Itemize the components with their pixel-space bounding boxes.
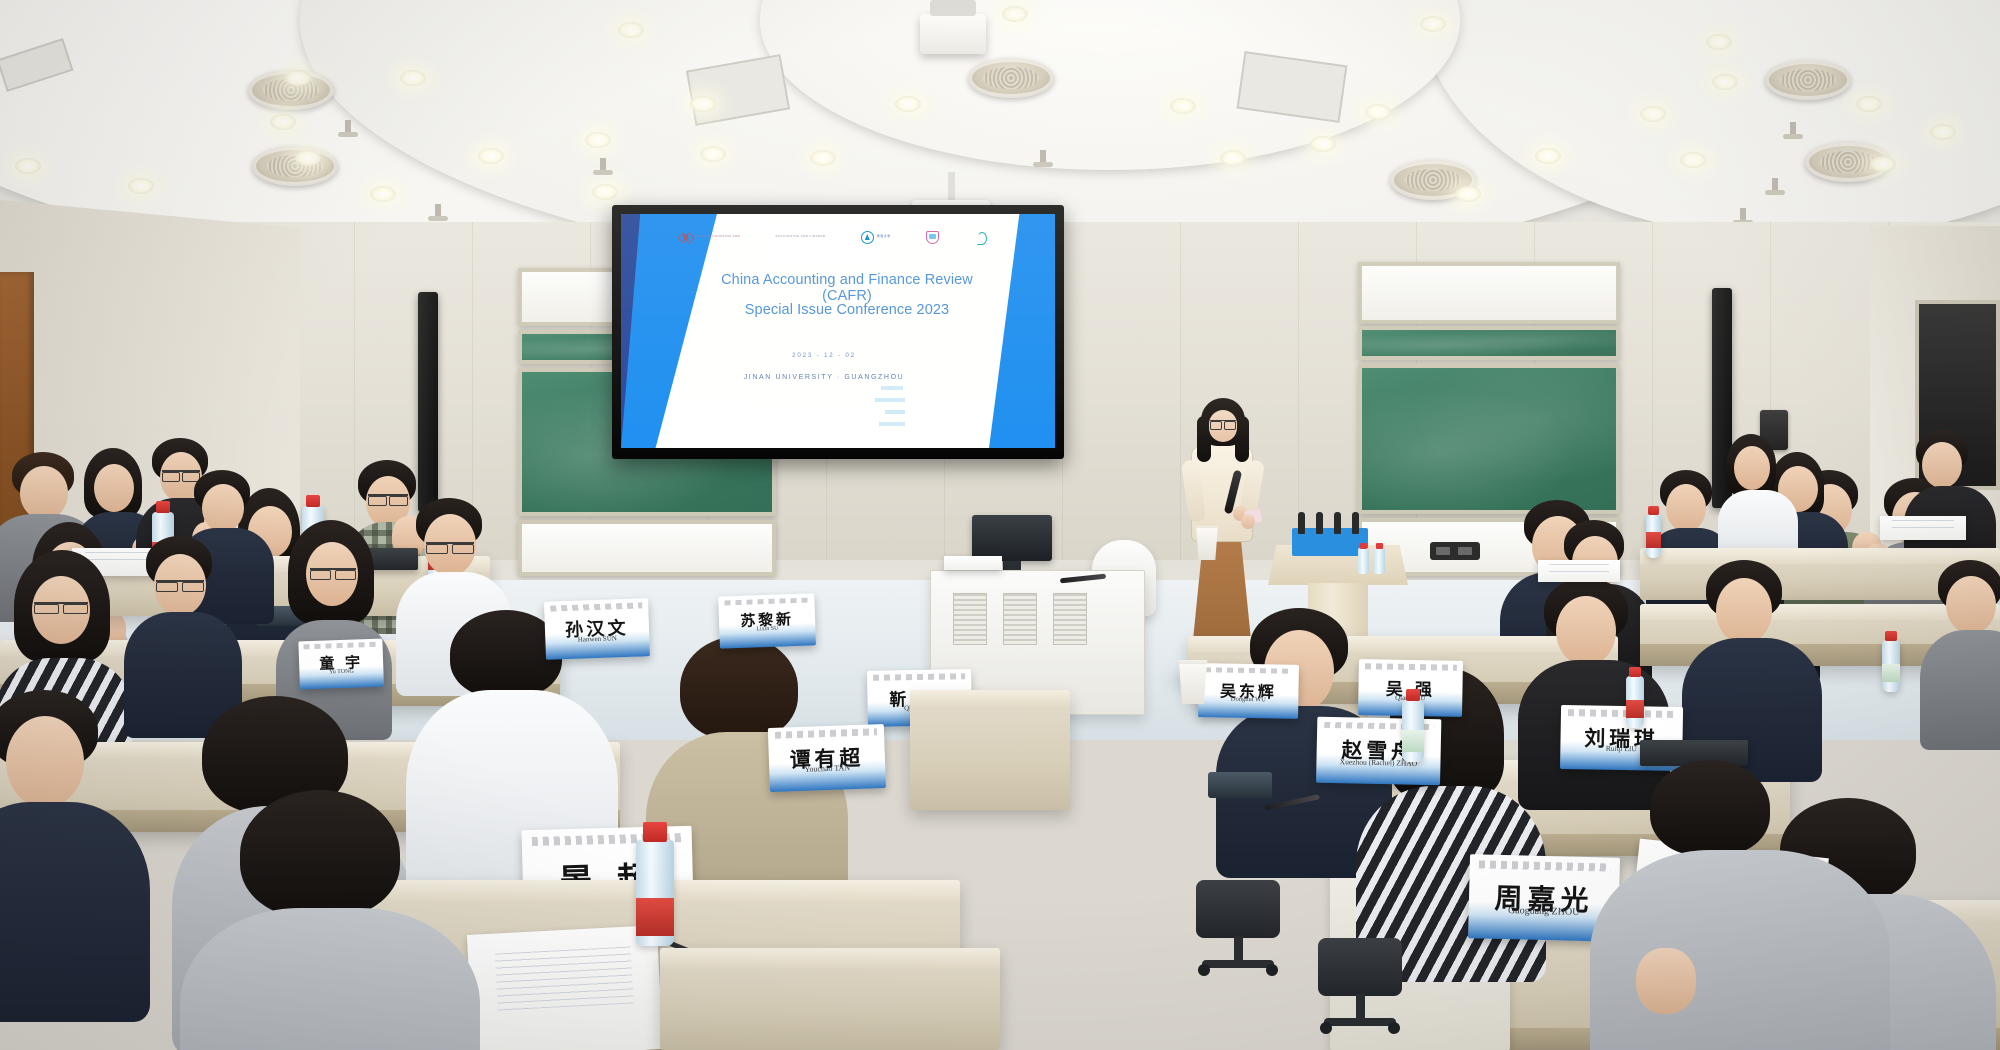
office-chair[interactable] xyxy=(1318,938,1402,1034)
nameplate: 吴东辉 Donghui WU xyxy=(1198,663,1299,719)
document-on-desk xyxy=(467,925,663,1050)
microphone-icon xyxy=(1298,512,1305,534)
chair-back xyxy=(1318,938,1402,996)
slide-watermark-graphic xyxy=(871,382,923,444)
ceiling-downlight xyxy=(370,186,396,202)
ceiling-downlight xyxy=(1002,6,1028,22)
nameplate-header-band xyxy=(1568,710,1675,718)
slide-subtitle: Special Issue Conference 2023 xyxy=(713,302,981,318)
chair-legs xyxy=(1324,1018,1396,1026)
ceiling-downlight xyxy=(1455,186,1481,202)
nameplate-header-band xyxy=(1365,663,1457,670)
chair-post xyxy=(1234,936,1243,962)
chair-legs xyxy=(1202,960,1274,968)
cabinet-vent xyxy=(1003,593,1037,645)
bottle-label xyxy=(1646,532,1661,548)
microphone-icon xyxy=(1352,512,1359,534)
bottle-label xyxy=(1882,664,1900,682)
bottle-label xyxy=(1402,730,1424,752)
led-display-screen[interactable]: CHINA ACCOUNTING AND ACCOUNTING AND FINA… xyxy=(612,205,1064,459)
chair-caster xyxy=(1266,964,1278,976)
nameplate: 谭有超 Youchao TAN xyxy=(768,724,886,792)
water-bottle xyxy=(1358,548,1369,574)
presentation-slide: CHINA ACCOUNTING AND ACCOUNTING AND FINA… xyxy=(621,214,1055,448)
chair-caster xyxy=(1320,1022,1332,1034)
cabinet-vent xyxy=(953,593,987,645)
bottle-label xyxy=(636,898,674,936)
presenter-hand xyxy=(1241,514,1255,529)
person-head xyxy=(1666,484,1706,532)
ceiling-downlight xyxy=(270,114,296,130)
ceiling-downlight xyxy=(1310,136,1336,152)
nameplate-header-band xyxy=(775,729,877,739)
logo-jinan-university: 暨南大学 xyxy=(861,231,891,244)
nameplate-header-band xyxy=(303,642,377,649)
person-head xyxy=(1556,596,1616,666)
chalkboard-surface xyxy=(1362,330,1616,356)
bottle-cap xyxy=(1406,689,1420,701)
ceiling xyxy=(0,0,2000,230)
ceiling-downlight xyxy=(1706,34,1732,50)
sprinkler-head-icon xyxy=(435,204,441,218)
bottle-cap xyxy=(1629,667,1641,677)
ceiling-downlight xyxy=(1640,106,1666,122)
whiteboard-upper-right xyxy=(1358,262,1620,324)
chalkboard-right xyxy=(1358,364,1620,514)
document-on-desk xyxy=(1880,516,1966,540)
water-bottle xyxy=(1374,548,1385,574)
ceiling-downlight xyxy=(1535,148,1561,164)
whiteboard-surface xyxy=(1362,266,1616,320)
slide-title: China Accounting and Finance Review (CAF… xyxy=(713,272,981,304)
chair-post xyxy=(1356,994,1365,1020)
bottle-cap xyxy=(643,822,667,842)
glasses-icon xyxy=(1210,420,1236,427)
bottle-label xyxy=(1626,700,1644,718)
aisle-desk xyxy=(910,690,1070,810)
diamond-logo-icon xyxy=(679,231,692,244)
water-bottle xyxy=(636,840,674,946)
ceiling-downlight xyxy=(1420,16,1446,32)
logo-research-center: ACCOUNTING AND FINANCE xyxy=(775,235,825,239)
person-head xyxy=(1734,446,1770,490)
nameplate-header-band xyxy=(1205,667,1293,674)
person-head xyxy=(1922,442,1962,488)
sprinkler-head-icon xyxy=(600,158,606,172)
nameplate-header-band xyxy=(724,597,809,605)
water-bottle xyxy=(1626,676,1644,728)
logo-cafr: CHINA ACCOUNTING AND xyxy=(679,231,740,244)
slide-date: 2023 - 12 - 02 xyxy=(713,352,935,359)
person-torso xyxy=(1590,850,1890,1050)
logo-cafr-label: CHINA ACCOUNTING AND xyxy=(695,235,740,239)
person-hand xyxy=(1636,948,1696,1014)
chair-caster xyxy=(1198,964,1210,976)
chalkboard-strip-right xyxy=(1358,326,1620,360)
logo-research-center-label: ACCOUNTING AND FINANCE xyxy=(775,235,825,239)
person-head xyxy=(202,484,244,532)
swoosh-logo-icon xyxy=(974,231,987,244)
person-hair xyxy=(1650,760,1770,856)
nameplate-name-en: Gaoguang ZHOU xyxy=(1469,905,1619,920)
ceiling-downlight xyxy=(1930,124,1956,140)
ceiling-downlight xyxy=(1856,96,1882,112)
nameplate: 苏黎新 Lixin SU xyxy=(718,593,816,648)
person-head xyxy=(6,716,84,808)
bottle-cap xyxy=(306,495,320,507)
glasses-icon xyxy=(34,602,88,613)
bottle-cap xyxy=(156,501,170,513)
nameplate-name-en: Donghui WU xyxy=(1198,696,1298,705)
slide-logo-row: CHINA ACCOUNTING AND ACCOUNTING AND FINA… xyxy=(679,224,987,250)
sprinkler-head-icon xyxy=(1740,208,1746,222)
air-diffuser-icon xyxy=(252,146,338,186)
sprinkler-head-icon xyxy=(1040,150,1046,164)
crest-logo-icon xyxy=(926,231,939,244)
desk-surface xyxy=(1640,548,2000,564)
monitor-screen xyxy=(972,515,1052,561)
bottle-cap xyxy=(1648,506,1659,515)
ceiling-downlight xyxy=(700,146,726,162)
person-head xyxy=(1946,576,1996,634)
ceiling-downlight xyxy=(895,96,921,112)
glasses-icon xyxy=(310,568,356,579)
whiteboard-lower-left xyxy=(518,520,776,576)
ceiling-downlight xyxy=(592,184,618,200)
person-head xyxy=(94,464,134,512)
ceiling-downlight xyxy=(1220,150,1246,166)
water-bottle xyxy=(1882,640,1900,692)
ceiling-downlight xyxy=(478,148,504,164)
ring-logo-icon xyxy=(861,231,874,244)
desk-surface xyxy=(660,948,1000,968)
air-diffuser-icon xyxy=(968,58,1054,98)
office-chair[interactable] xyxy=(1196,880,1280,976)
person-torso xyxy=(1920,630,2000,750)
ceiling-downlight xyxy=(295,150,321,166)
logo-jinan-label: 暨南大学 xyxy=(877,235,891,239)
person-torso xyxy=(0,802,150,1022)
ceiling-downlight xyxy=(618,22,644,38)
ceiling-downlight xyxy=(585,132,611,148)
ceiling-downlight xyxy=(128,178,154,194)
person-head xyxy=(1716,578,1772,644)
air-diffuser-icon xyxy=(1765,60,1851,100)
document-on-desk xyxy=(1538,560,1620,582)
microphone-icon xyxy=(1334,512,1341,534)
conference-photo: CHINA ACCOUNTING AND ACCOUNTING AND FINA… xyxy=(0,0,2000,1050)
ceiling-downlight xyxy=(1712,74,1738,90)
desk-row-foreground xyxy=(660,948,1000,1050)
ceiling-projector-mount xyxy=(920,14,986,54)
ceiling-downlight xyxy=(15,158,41,174)
water-bottle xyxy=(1646,514,1661,558)
ceiling-downlight xyxy=(400,70,426,86)
nameplate-header-band xyxy=(873,673,965,680)
whiteboard-surface xyxy=(522,524,772,572)
slide-wedge-right xyxy=(989,214,1055,448)
smartphone[interactable] xyxy=(1208,772,1272,798)
glasses-icon xyxy=(368,494,408,503)
cabinet-vent xyxy=(1053,593,1087,645)
ceiling-downlight xyxy=(1170,98,1196,114)
wall-speaker xyxy=(418,292,438,512)
slide-venue: JINAN UNIVERSITY · GUANGZHOU xyxy=(713,374,935,381)
sprinkler-head-icon xyxy=(1772,178,1778,192)
ceiling-downlight xyxy=(285,70,311,86)
chalkboard-surface xyxy=(1362,368,1616,510)
glasses-icon xyxy=(426,542,474,553)
ceiling-downlight xyxy=(1365,104,1391,120)
logo-swoosh xyxy=(974,231,987,244)
person-hair xyxy=(240,790,400,918)
glasses-icon xyxy=(156,580,204,591)
ceiling-downlight xyxy=(810,150,836,166)
sprinkler-head-icon xyxy=(1790,122,1796,136)
nameplate-header-band xyxy=(550,602,642,611)
nameplate: 童 宇 Yu TONG xyxy=(298,639,384,690)
nameplate-header-band xyxy=(1479,860,1611,872)
microphone-rack[interactable] xyxy=(1292,528,1368,556)
logo-crest xyxy=(926,231,939,244)
ceiling-downlight xyxy=(690,96,716,112)
sprinkler-head-icon xyxy=(345,120,351,134)
ceiling-downlight xyxy=(1870,156,1896,172)
chair-back xyxy=(1196,880,1280,938)
stage-paper xyxy=(944,556,1002,570)
water-bottle xyxy=(1402,700,1424,762)
person-torso xyxy=(180,908,480,1050)
person-hair xyxy=(680,636,798,740)
ceiling-downlight xyxy=(1680,152,1706,168)
desk-surface xyxy=(910,690,1070,706)
glasses-icon xyxy=(162,470,200,479)
chair-caster xyxy=(1388,1022,1400,1034)
nameplate: 孙汉文 Hanwen SUN xyxy=(544,598,650,660)
person-head xyxy=(20,466,68,520)
wall-outlet[interactable] xyxy=(1430,542,1480,560)
presenter-hair xyxy=(1235,416,1249,462)
microphone-icon xyxy=(1316,512,1323,534)
bottle-cap xyxy=(1885,631,1897,641)
